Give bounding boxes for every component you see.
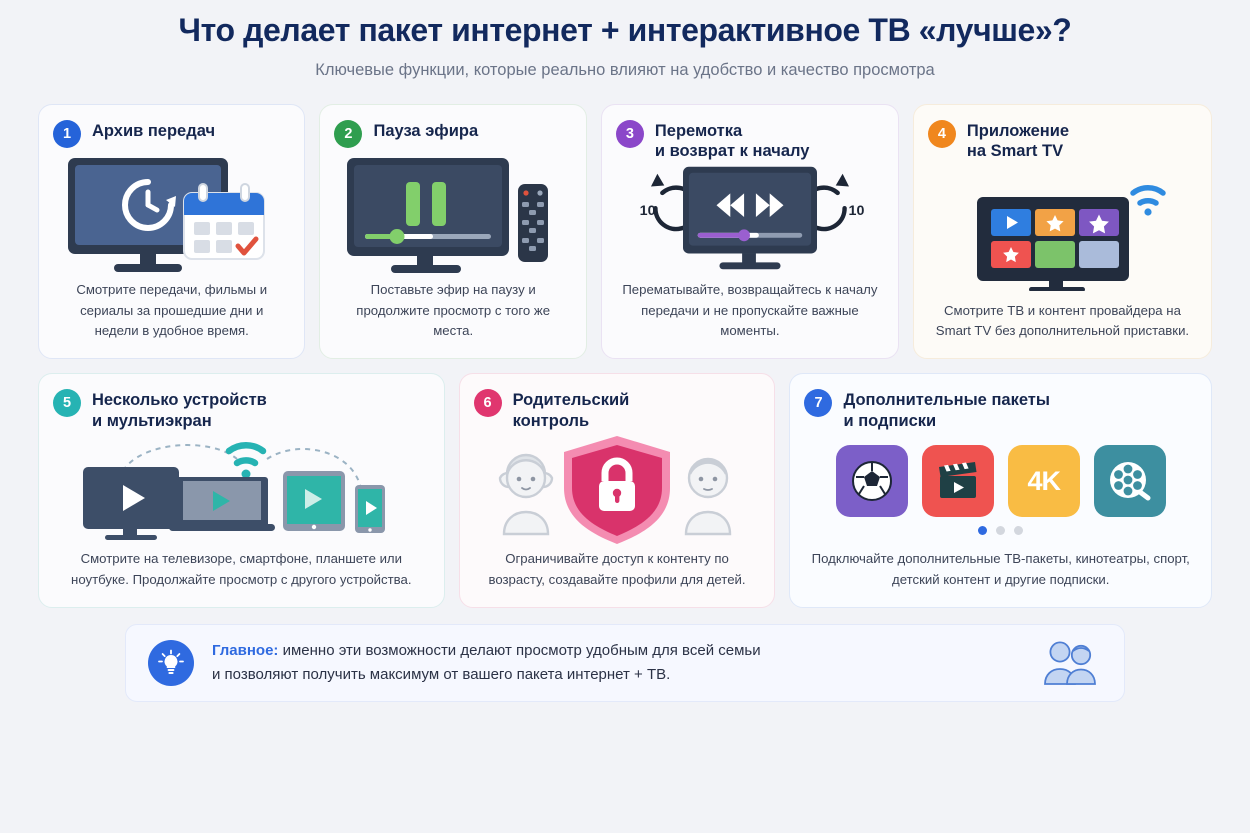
card-parental-control[interactable]: 6 Родительский контроль: [459, 373, 776, 608]
card-title-5-line1: Несколько устройств: [92, 390, 267, 410]
card-badge-3: 3: [616, 120, 644, 148]
header: Что делает пакет интернет + интерактивно…: [38, 0, 1212, 80]
card-subscriptions[interactable]: 7 Дополнительные пакеты и подписки: [789, 373, 1212, 608]
card-archive[interactable]: 1 Архив передач: [38, 104, 305, 359]
pagination-dot-1[interactable]: [978, 526, 987, 535]
footer-line-1-rest: именно эти возможности делают просмотр у…: [278, 642, 760, 659]
4k-tile[interactable]: 4K: [1008, 445, 1080, 517]
card-pause[interactable]: 2 Пауза эфира: [319, 104, 586, 359]
shield-lock-kids-icon: [474, 431, 761, 549]
card-badge-2: 2: [334, 120, 362, 148]
card-header: 4 Приложение на Smart TV: [928, 119, 1197, 162]
multi-device-icon: [53, 431, 430, 549]
boy-avatar-icon: [686, 459, 730, 534]
card-title-5: Несколько устройств и мультиэкран: [92, 388, 267, 431]
card-badge-1: 1: [53, 120, 81, 148]
card-header: 6 Родительский контроль: [474, 388, 761, 431]
pagination-dot-3[interactable]: [1014, 526, 1023, 535]
two-people-icon: [1038, 639, 1102, 687]
card-badge-6: 6: [474, 389, 502, 417]
card-title-3-line2: и возврат к началу: [655, 141, 810, 161]
infographic-page: Что делает пакет интернет + интерактивно…: [0, 0, 1250, 833]
pagination-dot-2[interactable]: [996, 526, 1005, 535]
wifi-icon: [1133, 188, 1163, 203]
tv-clock-calendar-icon: [53, 149, 290, 280]
card-smart-tv[interactable]: 4 Приложение на Smart TV: [913, 104, 1212, 359]
card-title-7: Дополнительные пакеты и подписки: [843, 388, 1050, 431]
footer-line-1: Главное: именно эти возможности делают п…: [212, 639, 1020, 663]
card-rewind[interactable]: 3 Перемотка и возврат к началу 10: [601, 104, 899, 359]
pagination-dots[interactable]: [978, 526, 1023, 535]
football-tile[interactable]: [836, 445, 908, 517]
card-title-7-line1: Дополнительные пакеты: [843, 390, 1050, 410]
film-reel-tile[interactable]: [1094, 445, 1166, 517]
card-description-6: Ограничивайте доступ к контенту по возра…: [474, 549, 761, 591]
card-title-4-line2: на Smart TV: [967, 141, 1069, 161]
footer-line-2: и позволяют получить максимум от вашего …: [212, 663, 1020, 687]
card-header: 5 Несколько устройств и мультиэкран: [53, 388, 430, 431]
card-header: 2 Пауза эфира: [334, 119, 571, 149]
card-title-4-line1: Приложение: [967, 121, 1069, 141]
card-header: 7 Дополнительные пакеты и подписки: [804, 388, 1197, 431]
svg-text:10: 10: [640, 203, 656, 219]
clapperboard-tile[interactable]: [922, 445, 994, 517]
tv-rewind-forward-icon: 10 10: [616, 162, 884, 280]
tiles-row: 4K: [836, 445, 1166, 517]
card-description-3: Перематывайте, возвращайтесь к началу пе…: [616, 280, 884, 343]
card-title-5-line2: и мультиэкран: [92, 411, 267, 431]
card-badge-4: 4: [928, 120, 956, 148]
card-badge-7: 7: [804, 389, 832, 417]
svg-text:10: 10: [848, 203, 864, 219]
card-title-6-line1: Родительский: [513, 390, 630, 410]
card-badge-5: 5: [53, 389, 81, 417]
smart-tv-apps-wifi-icon: [928, 162, 1197, 301]
card-title-6: Родительский контроль: [513, 388, 630, 431]
card-title-3-line1: Перемотка: [655, 121, 810, 141]
cards-row-2: 5 Несколько устройств и мультиэкран: [38, 373, 1212, 608]
wifi-icon: [229, 445, 263, 463]
page-subtitle: Ключевые функции, которые реально влияют…: [38, 61, 1212, 80]
card-title-6-line2: контроль: [513, 411, 630, 431]
card-description-1: Смотрите передачи, фильмы и сериалы за п…: [53, 280, 290, 343]
card-title-7-line2: и подписки: [843, 411, 1050, 431]
card-title-3: Перемотка и возврат к началу: [655, 119, 810, 162]
shield-icon: [564, 436, 670, 544]
footer-callout: Главное: именно эти возможности делают п…: [125, 624, 1125, 702]
footer-strong: Главное:: [212, 642, 278, 659]
card-description-5: Смотрите на телевизоре, смартфоне, планш…: [53, 549, 430, 591]
card-title-2: Пауза эфира: [373, 119, 478, 141]
card-title-1: Архив передач: [92, 119, 215, 141]
card-title-4: Приложение на Smart TV: [967, 119, 1069, 162]
card-description-7: Подключайте дополнительные ТВ-пакеты, ки…: [804, 549, 1197, 591]
card-multidevice[interactable]: 5 Несколько устройств и мультиэкран: [38, 373, 445, 608]
card-header: 3 Перемотка и возврат к началу: [616, 119, 884, 162]
card-header: 1 Архив передач: [53, 119, 290, 149]
cards-row-1: 1 Архив передач: [38, 104, 1212, 359]
page-title: Что делает пакет интернет + интерактивно…: [38, 12, 1212, 49]
card-description-4: Смотрите ТВ и контент провайдера на Smar…: [928, 301, 1197, 343]
subscription-tiles-icon: 4K: [804, 431, 1197, 549]
girl-avatar-icon: [500, 455, 552, 534]
footer-text: Главное: именно эти возможности делают п…: [212, 639, 1020, 688]
tv-pause-remote-icon: [334, 149, 571, 280]
lightbulb-icon: [148, 640, 194, 686]
card-description-2: Поставьте эфир на паузу и продолжите про…: [334, 280, 571, 343]
